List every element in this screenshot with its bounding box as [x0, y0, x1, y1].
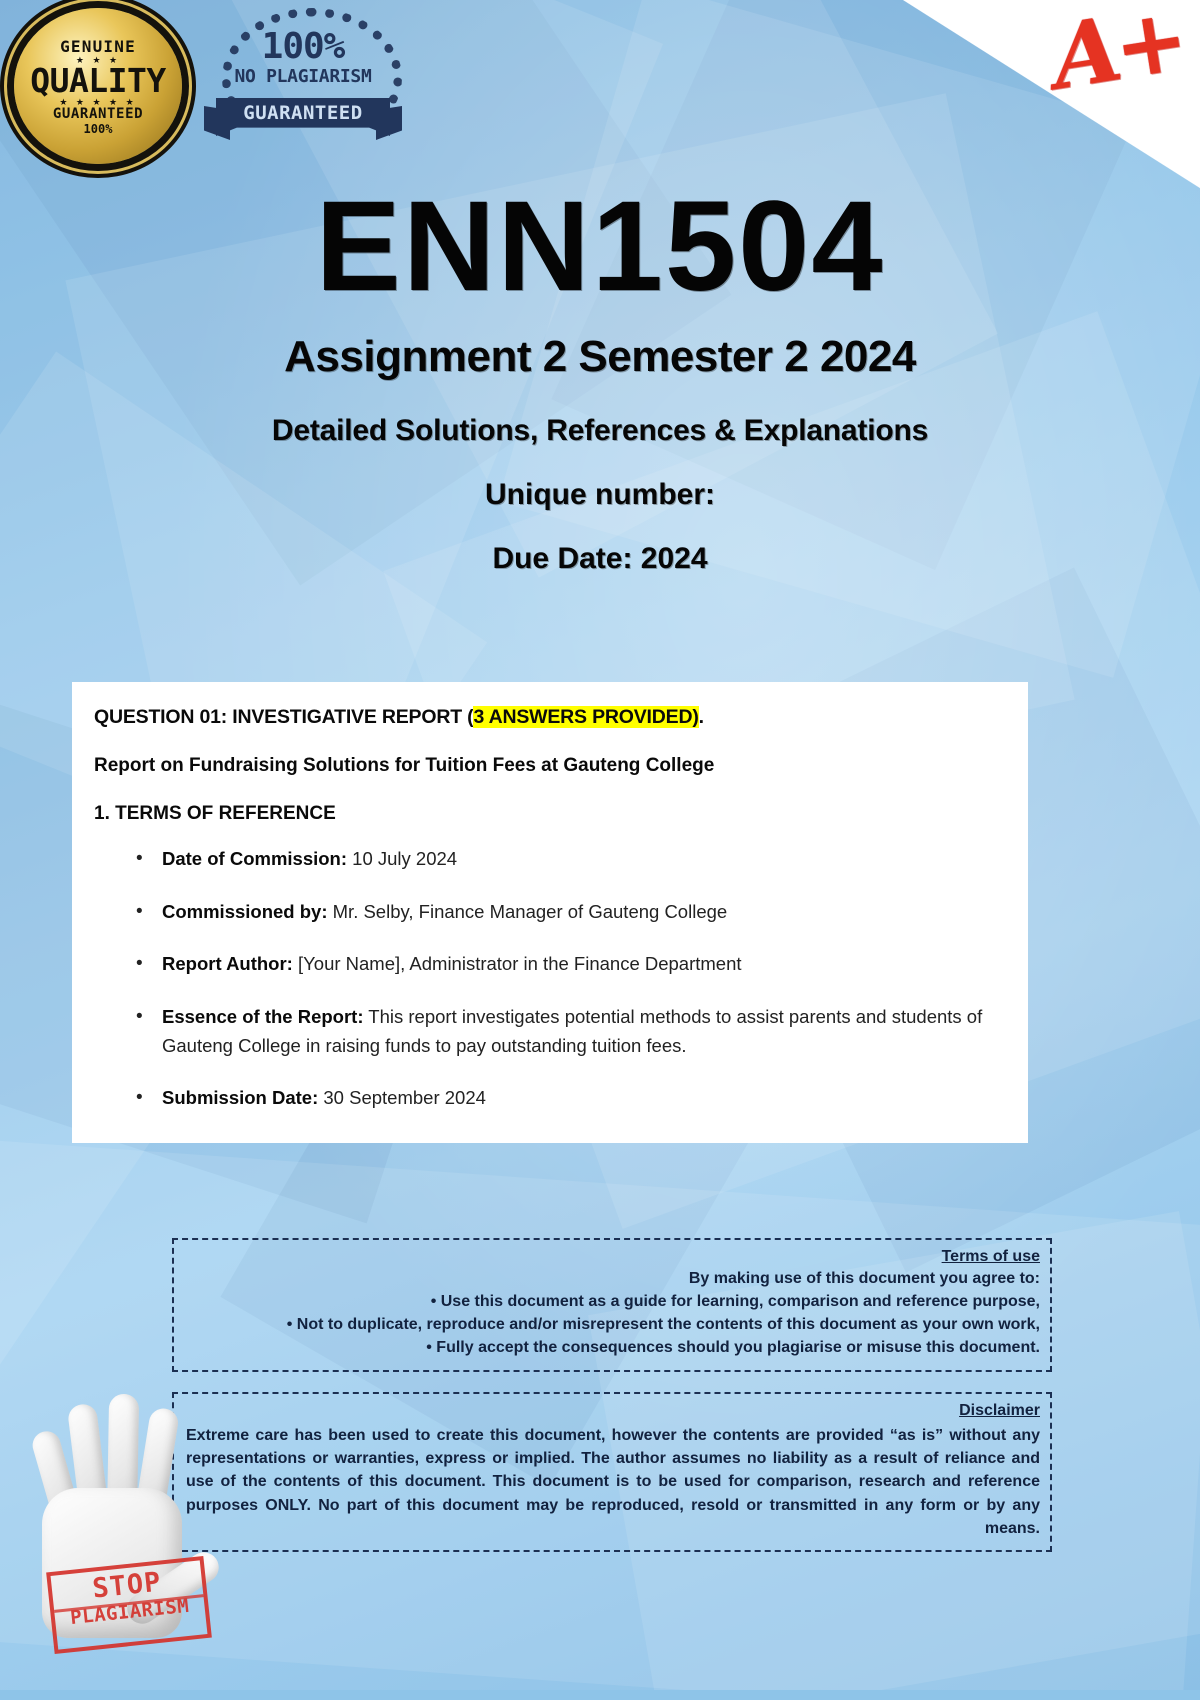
list-item: Essence of the Report: This report inves…	[94, 1003, 1006, 1060]
assignment-subtitle: Assignment 2 Semester 2 2024	[0, 332, 1200, 382]
answers-provided-highlight: 3 ANSWERS PROVIDED)	[473, 706, 698, 728]
terms-of-reference-heading: 1. TERMS OF REFERENCE	[94, 803, 1006, 825]
stop-plagiarism-stamp: STOP PLAGIARISM	[46, 1556, 212, 1654]
question-heading-prefix: QUESTION 01: INVESTIGATIVE REPORT (	[94, 706, 473, 728]
list-item-label: Commissioned by:	[162, 901, 328, 922]
list-item: Not to duplicate, reproduce and/or misre…	[186, 1313, 1040, 1336]
list-item: Fully accept the consequences should you…	[186, 1336, 1040, 1359]
question-heading: QUESTION 01: INVESTIGATIVE REPORT (3 ANS…	[94, 706, 1006, 729]
list-item-label: Essence of the Report:	[162, 1006, 364, 1027]
solutions-subtitle: Detailed Solutions, References & Explana…	[0, 414, 1200, 448]
terms-of-use-lead: By making use of this document you agree…	[186, 1270, 1040, 1288]
list-item-label: Date of Commission:	[162, 848, 347, 869]
terms-of-reference-list: Date of Commission: 10 July 2024 Commiss…	[94, 845, 1006, 1113]
list-item-value: Mr. Selby, Finance Manager of Gauteng Co…	[328, 901, 728, 922]
list-item: Submission Date: 30 September 2024	[94, 1084, 1006, 1113]
terms-of-use-box: Terms of use By making use of this docum…	[172, 1238, 1052, 1372]
due-date-label: Due Date: 2024	[0, 542, 1200, 576]
terms-of-use-list: Use this document as a guide for learnin…	[186, 1290, 1040, 1360]
question-heading-suffix: .	[699, 706, 704, 728]
disclaimer-body: Extreme care has been used to create thi…	[186, 1424, 1040, 1540]
list-item-value: 30 September 2024	[318, 1087, 486, 1108]
disclaimer-title: Disclaimer	[186, 1402, 1040, 1420]
cover-title-block: ENN1504 Assignment 2 Semester 2 2024 Det…	[0, 0, 1200, 576]
page-bottom-strip	[0, 1690, 1200, 1700]
stop-plagiarism-hand-icon: STOP PLAGIARISM	[8, 1368, 238, 1668]
list-item-label: Submission Date:	[162, 1087, 318, 1108]
list-item: Date of Commission: 10 July 2024	[94, 845, 1006, 874]
list-item: Use this document as a guide for learnin…	[186, 1290, 1040, 1313]
report-title: Report on Fundraising Solutions for Tuit…	[94, 755, 1006, 777]
course-code-title: ENN1504	[0, 180, 1200, 314]
unique-number-label: Unique number:	[0, 478, 1200, 512]
disclaimer-box: Disclaimer Extreme care has been used to…	[172, 1392, 1052, 1552]
content-card: QUESTION 01: INVESTIGATIVE REPORT (3 ANS…	[72, 682, 1028, 1143]
list-item: Report Author: [Your Name], Administrato…	[94, 950, 1006, 979]
list-item: Commissioned by: Mr. Selby, Finance Mana…	[94, 898, 1006, 927]
list-item-label: Report Author:	[162, 953, 293, 974]
list-item-value: [Your Name], Administrator in the Financ…	[293, 953, 742, 974]
terms-of-use-title: Terms of use	[186, 1248, 1040, 1266]
list-item-value: 10 July 2024	[347, 848, 457, 869]
